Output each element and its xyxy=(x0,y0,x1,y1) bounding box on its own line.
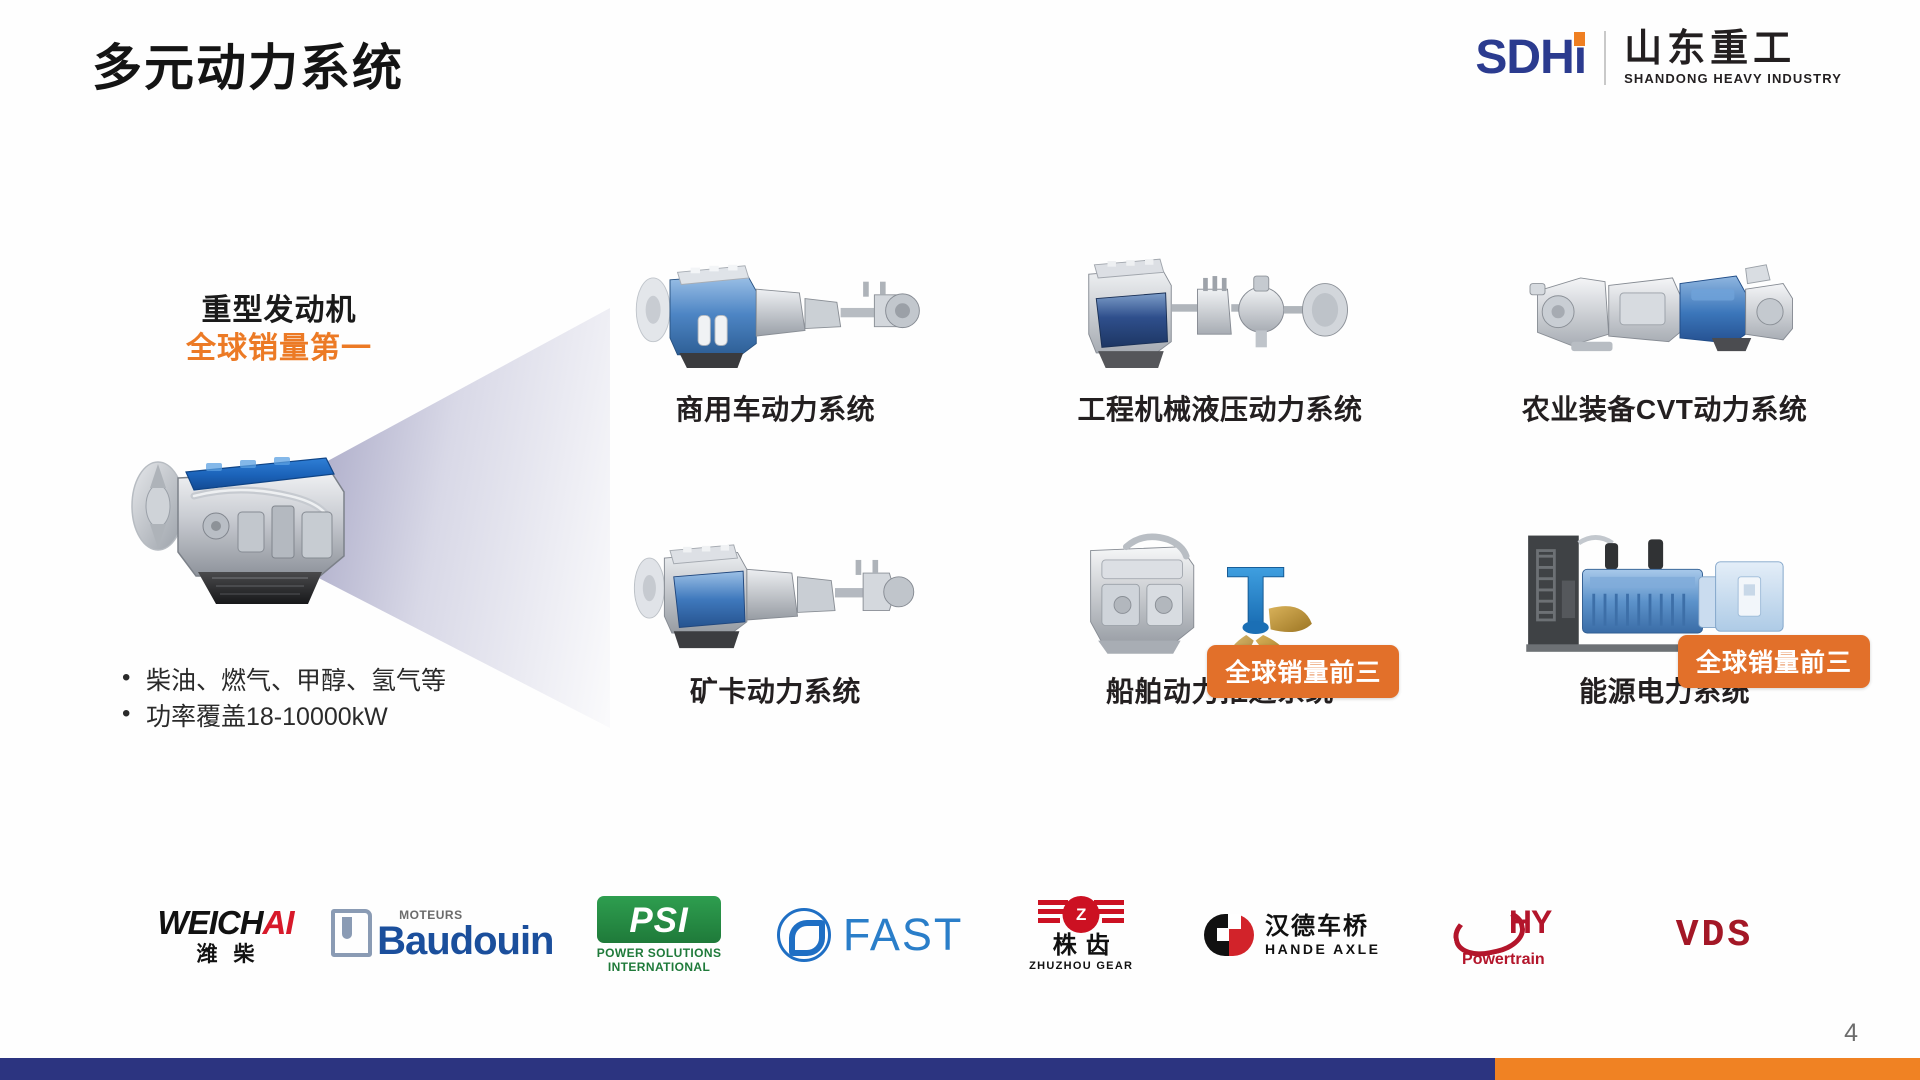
sdhi-wordmark: SDHi xyxy=(1475,34,1586,82)
weichai-en-tail: AI xyxy=(263,904,294,941)
product-label: 农业装备CVT动力系统 xyxy=(1522,388,1808,428)
logo-chinese-block: 山东重工 SHANDONG HEAVY INDUSTRY xyxy=(1624,30,1842,86)
baudouin-name: Baudouin xyxy=(377,921,553,961)
marine-propulsion-system-image xyxy=(1005,514,1436,664)
product-label: 矿卡动力系统 xyxy=(690,670,861,710)
zhuzhou-gear-icon: Z xyxy=(1063,896,1100,933)
status-badge: 全球销量前三 xyxy=(1207,645,1399,698)
psi-sub1: POWER SOLUTIONS xyxy=(597,947,722,961)
zhuzhou-en: ZHUZHOU GEAR xyxy=(1029,961,1133,972)
hero-heading-line1: 重型发动机 xyxy=(186,292,372,330)
logo-divider xyxy=(1604,31,1606,85)
commercial-vehicle-powertrain-image xyxy=(560,232,991,382)
construction-hydraulic-powertrain-image xyxy=(1005,232,1436,382)
product-label: 商用车动力系统 xyxy=(676,388,876,428)
product-card-energy-power[interactable]: 全球销量前三 能源电力系统 xyxy=(1449,514,1880,704)
partner-logo-baudouin: MOTEURS Baudouin xyxy=(331,889,553,981)
fast-name: FAST xyxy=(843,909,964,961)
psi-sub2: INTERNATIONAL xyxy=(597,961,722,975)
product-card-mining-truck[interactable]: 矿卡动力系统 xyxy=(560,514,991,704)
agricultural-cvt-powertrain-image xyxy=(1449,232,1880,382)
footer-bar-orange xyxy=(1495,1058,1920,1080)
sdhi-i-dot-accent xyxy=(1574,32,1585,46)
logo-en-name: SHANDONG HEAVY INDUSTRY xyxy=(1624,71,1842,86)
psi-name: PSI xyxy=(617,903,702,938)
product-card-construction-hydraulic[interactable]: 工程机械液压动力系统 xyxy=(1005,232,1436,422)
lhy-name: HY xyxy=(1509,906,1551,938)
hero-feature-list: 柴油、燃气、甲醇、氢气等 功率覆盖18-10000kW xyxy=(120,663,446,736)
baudouin-sup: MOTEURS xyxy=(399,909,463,921)
hero-heading: 重型发动机 全球销量第一 xyxy=(186,292,372,367)
mining-truck-powertrain-image xyxy=(560,514,991,664)
partner-logo-fast: FAST xyxy=(777,889,964,981)
partner-logo-zhuzhou-gear: Z 株齿 ZHUZHOU GEAR xyxy=(1029,889,1133,981)
zhuzhou-cn: 株齿 xyxy=(1029,934,1133,958)
product-card-agriculture-cvt[interactable]: 农业装备CVT动力系统 xyxy=(1449,232,1880,422)
list-item: 柴油、燃气、甲醇、氢气等 xyxy=(120,663,446,699)
product-card-commercial-vehicle[interactable]: 商用车动力系统 xyxy=(560,232,991,422)
lhy-loop-icon: HY xyxy=(1453,903,1553,949)
page-title: 多元动力系统 xyxy=(92,28,404,100)
hande-en: HANDE AXLE xyxy=(1265,941,1381,957)
zhuzhou-wing-icon: Z xyxy=(1038,898,1124,930)
company-logo: SDHi 山东重工 SHANDONG HEAVY INDUSTRY xyxy=(1475,30,1842,86)
product-grid: 商用车动力系统 xyxy=(560,232,1880,704)
slide-root: 多元动力系统 SDHi 山东重工 SHANDONG HEAVY INDUSTRY… xyxy=(0,0,1920,1080)
fast-swirl-icon xyxy=(777,908,831,962)
partner-logo-psi: PSI POWER SOLUTIONS INTERNATIONAL xyxy=(597,889,722,981)
partner-logo-lhy: HY Powertrain xyxy=(1453,889,1553,981)
list-item: 功率覆盖18-10000kW xyxy=(120,699,446,735)
hande-cn: 汉德车桥 xyxy=(1265,913,1381,941)
page-number: 4 xyxy=(1844,1019,1858,1048)
footer-bar-navy xyxy=(0,1058,1495,1080)
partner-logo-vds: VDS xyxy=(1676,889,1753,981)
status-badge: 全球销量前三 xyxy=(1678,635,1870,688)
logo-cn-name: 山东重工 xyxy=(1624,30,1796,68)
vds-name: VDS xyxy=(1676,914,1753,957)
partner-logo-hande-axle: 汉德车桥 HANDE AXLE xyxy=(1204,889,1381,981)
heavy-duty-engine-image xyxy=(120,400,390,620)
weichai-cn: 潍柴 xyxy=(158,944,294,965)
sdhi-wordmark-text: SDH xyxy=(1475,31,1573,84)
partner-logo-strip: WEICHAI 潍柴 MOTEURS Baudouin PSI POWER SO… xyxy=(120,880,1820,990)
baudouin-mark-icon xyxy=(331,909,372,957)
footer-accent-bar xyxy=(0,1058,1920,1080)
product-label: 工程机械液压动力系统 xyxy=(1077,388,1362,428)
hero-heading-line2: 全球销量第一 xyxy=(186,330,372,368)
hande-mark-icon xyxy=(1204,914,1254,956)
partner-logo-weichai: WEICHAI 潍柴 xyxy=(158,889,294,981)
weichai-en-head: WEICH xyxy=(158,904,263,941)
product-card-marine-propulsion[interactable]: 全球销量前三 船舶动力推进系统 xyxy=(1005,514,1436,704)
